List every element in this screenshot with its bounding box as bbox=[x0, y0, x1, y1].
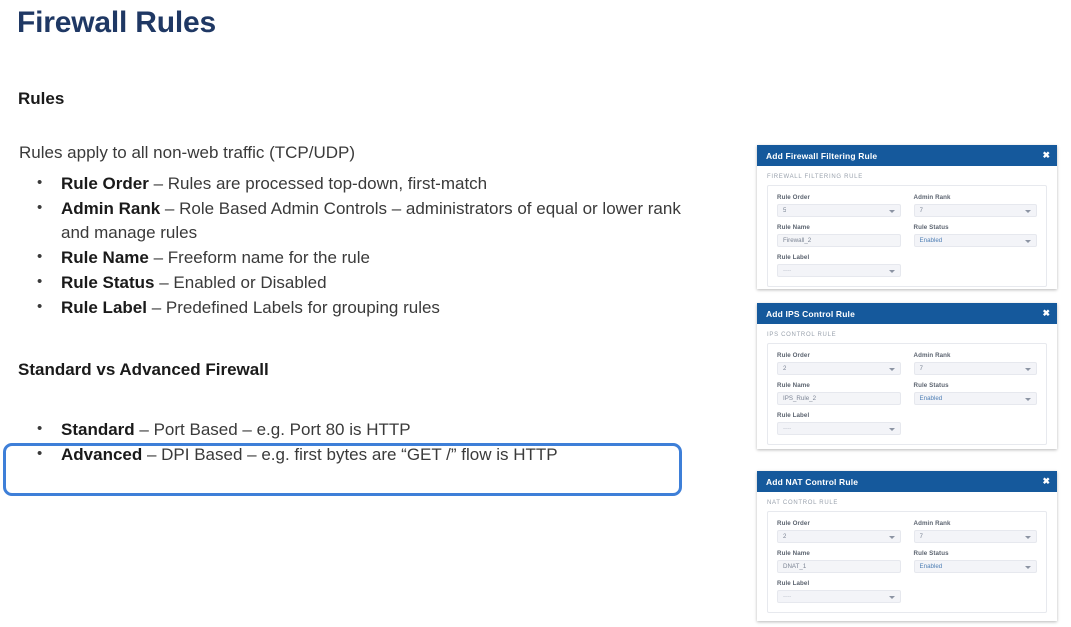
bullet-text: – Port Based – e.g. Port 80 is HTTP bbox=[135, 420, 411, 439]
field-rule-status: Rule Status Enabled bbox=[914, 382, 1038, 405]
rule-order-value: 5 bbox=[783, 207, 786, 214]
dialog-body: NAT CONTROL RULE Rule Order 2 Admin Rank… bbox=[757, 492, 1057, 621]
admin-rank-select[interactable]: 7 bbox=[914, 530, 1038, 543]
bullet-term: Rule Name bbox=[61, 248, 149, 267]
list-item: Rule Order – Rules are processed top-dow… bbox=[19, 172, 699, 196]
field-admin-rank: Admin Rank 7 bbox=[914, 352, 1038, 375]
chevron-down-icon bbox=[1025, 368, 1031, 371]
bullet-term: Rule Status bbox=[61, 273, 155, 292]
bullet-term: Standard bbox=[61, 420, 135, 439]
field-rule-status: Rule Status Enabled bbox=[914, 224, 1038, 247]
rule-label-select[interactable]: ---- bbox=[777, 422, 901, 435]
field-rule-name: Rule Name Firewall_2 bbox=[777, 224, 901, 247]
admin-rank-value: 7 bbox=[920, 533, 923, 540]
section-heading-rules: Rules bbox=[18, 89, 64, 109]
field-label: Admin Rank bbox=[914, 352, 1038, 359]
rule-status-select[interactable]: Enabled bbox=[914, 234, 1038, 247]
field-label: Admin Rank bbox=[914, 194, 1038, 201]
field-label: Rule Name bbox=[777, 224, 901, 231]
field-rule-order: Rule Order 2 bbox=[777, 520, 901, 543]
bullet-term: Rule Label bbox=[61, 298, 147, 317]
field-rule-label: Rule Label ---- bbox=[777, 412, 901, 435]
list-item: Standard – Port Based – e.g. Port 80 is … bbox=[19, 418, 699, 442]
rule-order-value: 2 bbox=[783, 533, 786, 540]
admin-rank-select[interactable]: 7 bbox=[914, 204, 1038, 217]
field-row: Rule Order 2 Admin Rank 7 bbox=[777, 352, 1037, 375]
group-caption: IPS CONTROL RULE bbox=[767, 332, 1047, 338]
field-label: Rule Status bbox=[914, 224, 1038, 231]
rule-label-value: ---- bbox=[783, 593, 791, 600]
field-label: Rule Label bbox=[777, 580, 901, 587]
field-row: Rule Name DNAT_1 Rule Status Enabled bbox=[777, 550, 1037, 573]
bullet-text: – Rules are processed top-down, first-ma… bbox=[149, 174, 487, 193]
highlight-callout-box bbox=[3, 443, 682, 496]
close-icon[interactable]: ✖ bbox=[1042, 477, 1050, 486]
dialog-body: IPS CONTROL RULE Rule Order 2 Admin Rank… bbox=[757, 324, 1057, 449]
chevron-down-icon bbox=[889, 270, 895, 273]
field-row: Rule Name IPS_Rule_2 Rule Status Enabled bbox=[777, 382, 1037, 405]
field-card: Rule Order 5 Admin Rank 7 Rule Name bbox=[767, 185, 1047, 287]
rules-intro-text: Rules apply to all non-web traffic (TCP/… bbox=[19, 143, 355, 163]
chevron-down-icon bbox=[889, 210, 895, 213]
field-label: Rule Order bbox=[777, 520, 901, 527]
field-rule-order: Rule Order 5 bbox=[777, 194, 901, 217]
chevron-down-icon bbox=[1025, 240, 1031, 243]
bullet-text: – Freeform name for the rule bbox=[149, 248, 370, 267]
list-item: Rule Name – Freeform name for the rule bbox=[19, 246, 699, 270]
dialog-title: Add IPS Control Rule bbox=[766, 309, 855, 319]
rule-status-value: Enabled bbox=[920, 395, 943, 402]
field-admin-rank: Admin Rank 7 bbox=[914, 194, 1038, 217]
field-label: Rule Name bbox=[777, 382, 901, 389]
rules-bullet-list: Rule Order – Rules are processed top-dow… bbox=[19, 172, 699, 321]
field-rule-label: Rule Label ---- bbox=[777, 254, 901, 277]
rule-label-value: ---- bbox=[783, 267, 791, 274]
dialog-body: FIREWALL FILTERING RULE Rule Order 5 Adm… bbox=[757, 166, 1057, 289]
rule-order-select[interactable]: 2 bbox=[777, 530, 901, 543]
section-heading-standard-vs-advanced: Standard vs Advanced Firewall bbox=[18, 360, 269, 380]
field-label: Rule Name bbox=[777, 550, 901, 557]
field-row: Rule Label ---- bbox=[777, 580, 1037, 603]
field-card: Rule Order 2 Admin Rank 7 Rule Name bbox=[767, 343, 1047, 445]
field-label: Rule Status bbox=[914, 382, 1038, 389]
rule-label-select[interactable]: ---- bbox=[777, 264, 901, 277]
chevron-down-icon bbox=[889, 368, 895, 371]
field-card: Rule Order 2 Admin Rank 7 Rule Name bbox=[767, 511, 1047, 613]
chevron-down-icon bbox=[1025, 566, 1031, 569]
field-label: Rule Order bbox=[777, 194, 901, 201]
rule-order-select[interactable]: 5 bbox=[777, 204, 901, 217]
rule-name-value: Firewall_2 bbox=[783, 237, 811, 244]
dialog-add-firewall-filtering-rule: Add Firewall Filtering Rule ✖ FIREWALL F… bbox=[757, 145, 1057, 289]
chevron-down-icon bbox=[1025, 536, 1031, 539]
field-admin-rank: Admin Rank 7 bbox=[914, 520, 1038, 543]
field-rule-order: Rule Order 2 bbox=[777, 352, 901, 375]
admin-rank-value: 7 bbox=[920, 365, 923, 372]
admin-rank-value: 7 bbox=[920, 207, 923, 214]
field-row: Rule Name Firewall_2 Rule Status Enabled bbox=[777, 224, 1037, 247]
field-row: Rule Label ---- bbox=[777, 412, 1037, 435]
field-label: Rule Label bbox=[777, 254, 901, 261]
chevron-down-icon bbox=[889, 596, 895, 599]
group-caption: NAT CONTROL RULE bbox=[767, 500, 1047, 506]
rule-name-value: DNAT_1 bbox=[783, 563, 806, 570]
dialog-header: Add IPS Control Rule ✖ bbox=[757, 303, 1057, 324]
admin-rank-select[interactable]: 7 bbox=[914, 362, 1038, 375]
rule-name-input[interactable]: IPS_Rule_2 bbox=[777, 392, 901, 405]
dialog-header: Add NAT Control Rule ✖ bbox=[757, 471, 1057, 492]
rule-status-value: Enabled bbox=[920, 563, 943, 570]
chevron-down-icon bbox=[1025, 210, 1031, 213]
group-caption: FIREWALL FILTERING RULE bbox=[767, 174, 1047, 180]
rule-name-input[interactable]: DNAT_1 bbox=[777, 560, 901, 573]
field-rule-status: Rule Status Enabled bbox=[914, 550, 1038, 573]
rule-order-value: 2 bbox=[783, 365, 786, 372]
dialog-header: Add Firewall Filtering Rule ✖ bbox=[757, 145, 1057, 166]
field-label: Rule Order bbox=[777, 352, 901, 359]
rule-status-select[interactable]: Enabled bbox=[914, 560, 1038, 573]
field-rule-name: Rule Name IPS_Rule_2 bbox=[777, 382, 901, 405]
bullet-text: – Predefined Labels for grouping rules bbox=[147, 298, 440, 317]
dialog-title: Add NAT Control Rule bbox=[766, 477, 858, 487]
bullet-text: – Enabled or Disabled bbox=[155, 273, 327, 292]
field-rule-name: Rule Name DNAT_1 bbox=[777, 550, 901, 573]
dialog-title: Add Firewall Filtering Rule bbox=[766, 151, 877, 161]
field-row: Rule Label ---- bbox=[777, 254, 1037, 277]
rule-name-value: IPS_Rule_2 bbox=[783, 395, 816, 402]
close-icon[interactable]: ✖ bbox=[1042, 151, 1050, 160]
chevron-down-icon bbox=[889, 536, 895, 539]
field-label: Admin Rank bbox=[914, 520, 1038, 527]
list-item: Rule Label – Predefined Labels for group… bbox=[19, 296, 699, 320]
field-row: Rule Order 5 Admin Rank 7 bbox=[777, 194, 1037, 217]
page-title: Firewall Rules bbox=[17, 6, 216, 40]
rule-label-value: ---- bbox=[783, 425, 791, 432]
dialog-add-ips-control-rule: Add IPS Control Rule ✖ IPS CONTROL RULE … bbox=[757, 303, 1057, 449]
field-row: Rule Order 2 Admin Rank 7 bbox=[777, 520, 1037, 543]
list-item: Rule Status – Enabled or Disabled bbox=[19, 271, 699, 295]
field-label: Rule Status bbox=[914, 550, 1038, 557]
bullet-term: Rule Order bbox=[61, 174, 149, 193]
field-label: Rule Label bbox=[777, 412, 901, 419]
chevron-down-icon bbox=[889, 428, 895, 431]
rule-status-select[interactable]: Enabled bbox=[914, 392, 1038, 405]
rule-status-value: Enabled bbox=[920, 237, 943, 244]
dialog-add-nat-control-rule: Add NAT Control Rule ✖ NAT CONTROL RULE … bbox=[757, 471, 1057, 621]
chevron-down-icon bbox=[1025, 398, 1031, 401]
bullet-term: Admin Rank bbox=[61, 199, 160, 218]
rule-order-select[interactable]: 2 bbox=[777, 362, 901, 375]
rule-name-input[interactable]: Firewall_2 bbox=[777, 234, 901, 247]
close-icon[interactable]: ✖ bbox=[1042, 309, 1050, 318]
list-item: Admin Rank – Role Based Admin Controls –… bbox=[19, 197, 699, 245]
rule-label-select[interactable]: ---- bbox=[777, 590, 901, 603]
field-rule-label: Rule Label ---- bbox=[777, 580, 901, 603]
